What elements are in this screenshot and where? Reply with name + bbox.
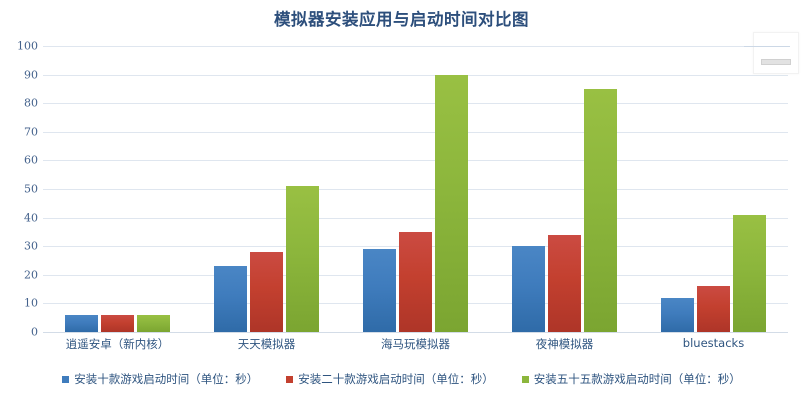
y-axis-tick-label: 0 [0, 326, 38, 339]
bar [250, 252, 283, 332]
x-axis-category-label: 夜神模拟器 [536, 336, 594, 352]
y-axis-tick-label: 50 [0, 183, 38, 196]
y-axis-tick-label: 80 [0, 97, 38, 110]
bar [137, 315, 170, 332]
legend-swatch-icon [62, 376, 69, 383]
y-axis-tick-label: 20 [0, 268, 38, 281]
bars-layer [43, 46, 788, 332]
top-right-overlay-artifact [753, 32, 799, 74]
bar [363, 249, 396, 332]
x-axis-category-label: 天天模拟器 [238, 336, 296, 352]
y-axis-tick-labels: 0102030405060708090100 [0, 46, 38, 332]
y-axis-tick-label: 30 [0, 240, 38, 253]
x-axis-category-label: 海马玩模拟器 [381, 336, 450, 352]
overlay-bar [761, 59, 791, 65]
x-axis-category-label: bluestacks [683, 336, 744, 350]
x-axis-category-labels: 逍遥安卓（新内核）天天模拟器海马玩模拟器夜神模拟器bluestacks [43, 336, 788, 358]
bar [101, 315, 134, 332]
bar [214, 266, 247, 332]
y-axis-tick-label: 100 [0, 40, 38, 53]
chart-title: 模拟器安装应用与启动时间对比图 [0, 6, 803, 30]
y-axis-tick-label: 90 [0, 68, 38, 81]
overlay-line [744, 46, 790, 47]
y-axis-tick-label: 70 [0, 125, 38, 138]
legend-item[interactable]: 安装十款游戏启动时间（单位：秒） [62, 371, 258, 387]
y-axis-tick-label: 10 [0, 297, 38, 310]
legend-label: 安装二十款游戏启动时间（单位：秒） [298, 371, 494, 387]
legend-item[interactable]: 安装五十五款游戏启动时间（单位：秒） [522, 371, 741, 387]
x-axis-category-label: 逍遥安卓（新内核） [66, 336, 170, 352]
bar [733, 215, 766, 332]
bar [512, 246, 545, 332]
y-axis-tick-label: 60 [0, 154, 38, 167]
gridline [43, 332, 788, 333]
legend-label: 安装十款游戏启动时间（单位：秒） [74, 371, 258, 387]
bar [399, 232, 432, 332]
chart-legend: 安装十款游戏启动时间（单位：秒）安装二十款游戏启动时间（单位：秒）安装五十五款游… [0, 369, 803, 389]
legend-swatch-icon [286, 376, 293, 383]
legend-swatch-icon [522, 376, 529, 383]
bar [697, 286, 730, 332]
legend-label: 安装五十五款游戏启动时间（单位：秒） [534, 371, 741, 387]
bar [65, 315, 98, 332]
bar [435, 75, 468, 332]
y-axis-tick-label: 40 [0, 211, 38, 224]
legend-item[interactable]: 安装二十款游戏启动时间（单位：秒） [286, 371, 494, 387]
bar [584, 89, 617, 332]
bar [548, 235, 581, 332]
bar [661, 298, 694, 332]
chart-container: 模拟器安装应用与启动时间对比图 0102030405060708090100 逍… [0, 0, 803, 400]
bar [286, 186, 319, 332]
